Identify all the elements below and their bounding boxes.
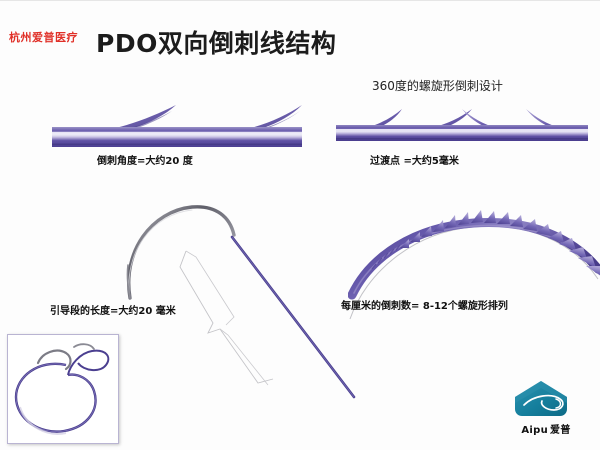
logo-wordmark: Aipu爱普	[500, 421, 592, 436]
company-brand-chinese: 杭州爱普医疗	[9, 29, 78, 45]
spiral-barbed-arc	[348, 199, 600, 379]
caption-barb-angle: 倒刺角度=大约20 度	[97, 152, 193, 167]
curved-needle-with-thread	[108, 193, 368, 403]
barbed-suture-closeup-right	[336, 105, 588, 151]
caption-barb-density: 每厘米的倒刺数= 8-12个螺旋形排列	[341, 297, 508, 312]
slide-canvas: 杭州爱普医疗 PDO双向倒刺线结构 360度的螺旋形倒刺设计	[0, 0, 600, 450]
logo-latin-text: Aipu	[521, 425, 548, 436]
page-title: PDO双向倒刺线结构	[96, 24, 336, 60]
caption-lead-length: 引导段的长度=大约20 毫米	[50, 302, 176, 317]
aipu-logo-mark	[512, 379, 570, 421]
corporate-logo: Aipu爱普	[500, 379, 592, 443]
coiled-double-needle-suture	[7, 334, 119, 444]
barbed-suture-closeup-left	[52, 99, 302, 151]
subtitle-spiral-design: 360度的螺旋形倒刺设计	[372, 77, 503, 94]
caption-transition-point: 过渡点 =大约5毫米	[370, 152, 459, 167]
logo-chinese-text: 爱普	[550, 425, 571, 436]
